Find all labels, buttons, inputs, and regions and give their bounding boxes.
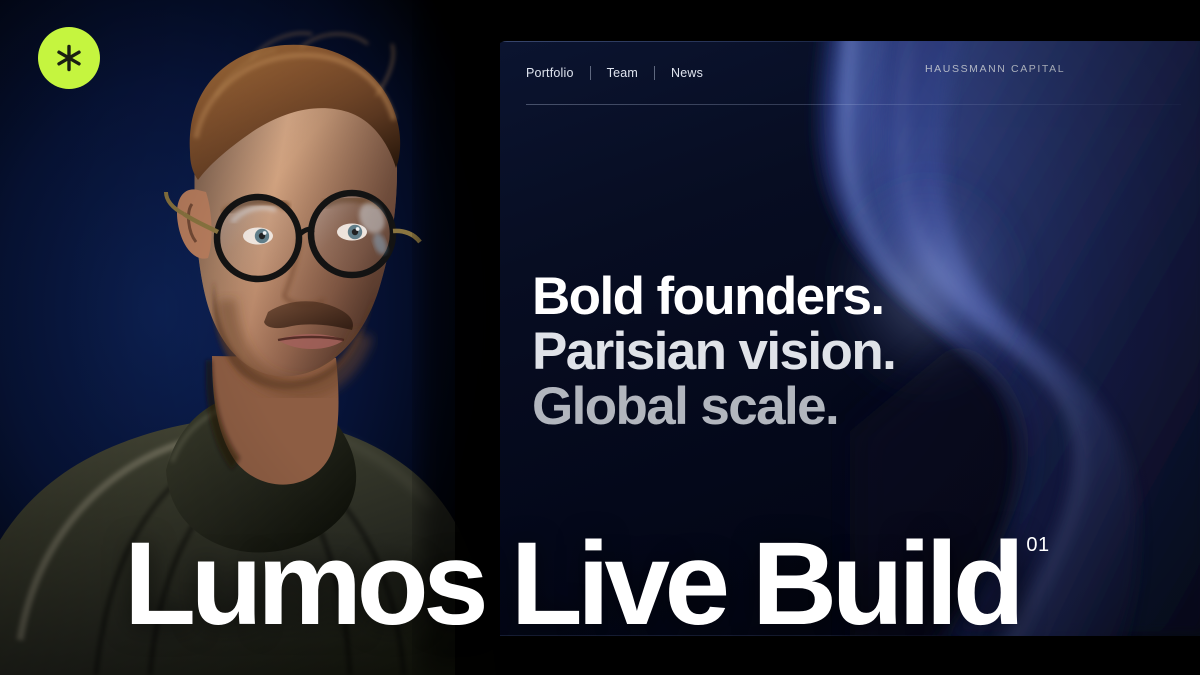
nav-underline-rule — [526, 104, 1181, 105]
nav-item-team[interactable]: Team — [591, 66, 654, 80]
video-title-text: Lumos Live Build — [124, 530, 1019, 639]
asterisk-icon[interactable] — [38, 27, 100, 89]
site-navigation-bar: Portfolio Team News HAUSSMANN CAPITAL — [493, 41, 1200, 105]
nav-item-news[interactable]: News — [655, 66, 719, 80]
nav-links-group: Portfolio Team News — [526, 66, 719, 80]
video-title: Lumos Live Build 01 — [124, 530, 1050, 639]
brand-wordmark: HAUSSMANN CAPITAL — [925, 63, 1065, 75]
thumbnail-canvas: Portfolio Team News HAUSSMANN CAPITAL Bo… — [0, 0, 1200, 675]
nav-item-portfolio[interactable]: Portfolio — [526, 66, 590, 80]
headline-line-2: Parisian vision. — [532, 325, 895, 380]
headline-line-3: Global scale. — [532, 380, 895, 435]
headline-line-1: Bold founders. — [532, 270, 895, 325]
hero-headline: Bold founders. Parisian vision. Global s… — [532, 270, 895, 435]
episode-number: 01 — [1026, 536, 1049, 554]
